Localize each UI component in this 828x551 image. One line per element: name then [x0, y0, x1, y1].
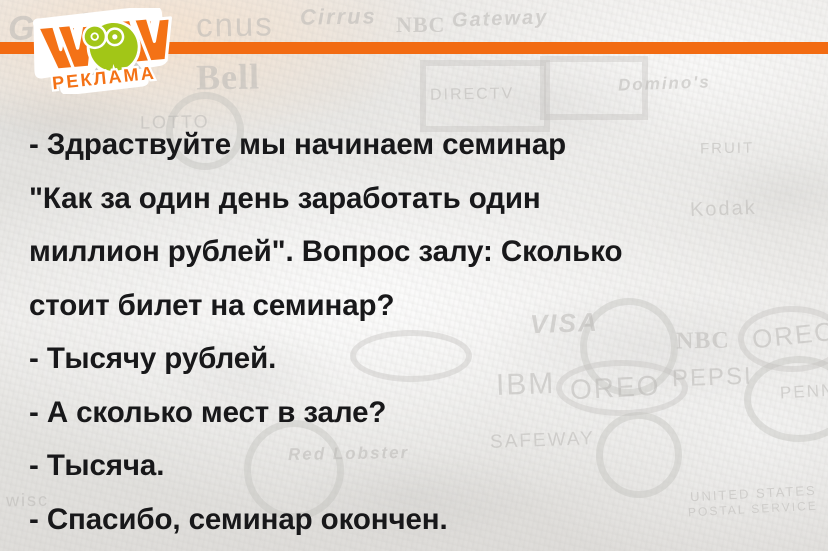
joke-line: "Как за один день заработать один [29, 172, 819, 226]
joke-line: - А сколько мест в зале? [29, 386, 819, 440]
joke-line: миллион рублей". Вопрос залу: Сколько [29, 225, 819, 279]
meme-card: GasjolcnusCirrusNBCGatewayBellDIRECTVDom… [0, 0, 828, 551]
joke-line: стоит билет на семинар? [29, 279, 819, 333]
joke-text-block: - Здраствуйте мы начинаем семинар "Как з… [29, 118, 819, 546]
joke-line: - Тысячу рублей. [29, 332, 819, 386]
joke-line: - Здраствуйте мы начинаем семинар [29, 118, 819, 172]
joke-line: - Тысяча. [29, 439, 819, 493]
joke-line: - Спасибо, семинар окончен. [29, 493, 819, 547]
woow-logo: РЕКЛАМА [26, 8, 178, 94]
